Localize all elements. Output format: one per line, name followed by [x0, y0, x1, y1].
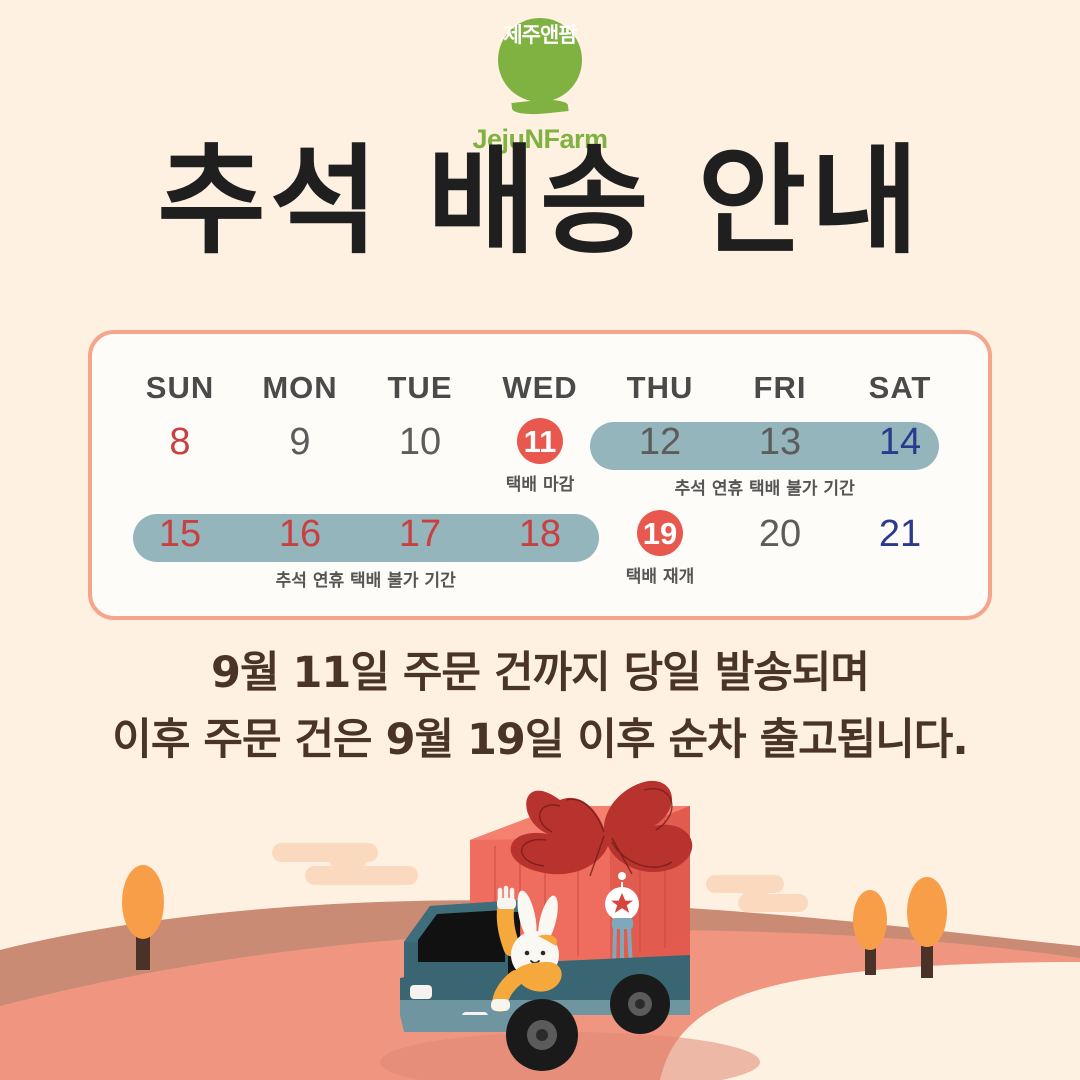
weekday-wed: WED: [480, 370, 600, 406]
notice-line-2: 이후 주문 건은 9월 19일 이후 순차 출고됩니다.: [0, 707, 1080, 774]
calendar-day-11: 11 택배 마감: [480, 406, 600, 498]
day-number: 16: [277, 512, 323, 556]
calendar-day-17: 17: [360, 498, 480, 590]
calendar-card: SUN MON TUE WED THU FRI SAT 추석 연휴 택배 불가 …: [88, 330, 992, 620]
calendar-day-8: 8: [120, 406, 240, 498]
calendar-day-18: 18: [480, 498, 600, 590]
logo-mark: 제주앤팜: [494, 18, 586, 110]
day-number-badge: 11: [517, 418, 563, 464]
page-title: 추석 배송 안내: [0, 140, 1080, 264]
day-number: 14: [877, 420, 923, 464]
day-number: 8: [157, 420, 203, 464]
day-number: 9: [277, 420, 323, 464]
day-number: 10: [397, 420, 443, 464]
calendar-day-19: 19 택배 재개: [600, 498, 720, 590]
weekday-thu: THU: [600, 370, 720, 406]
calendar-weekday-header: SUN MON TUE WED THU FRI SAT: [120, 370, 960, 406]
calendar-day-10: 10: [360, 406, 480, 498]
day-number-badge: 19: [637, 510, 683, 556]
notice-line-1: 9월 11일 주문 건까지 당일 발송되며: [0, 640, 1080, 707]
day-number: 18: [517, 512, 563, 556]
calendar-week-row: 추석 연휴 택배 불가 기간 8 9 10 11 택배 마감 12 13 14: [120, 406, 960, 498]
logo-korean-text: 제주앤팜: [494, 24, 586, 46]
calendar-day-16: 16: [240, 498, 360, 590]
day-number: 12: [637, 420, 683, 464]
weekday-sun: SUN: [120, 370, 240, 406]
weekday-mon: MON: [240, 370, 360, 406]
calendar-day-14: 14: [840, 406, 960, 498]
day-number: 20: [757, 512, 803, 556]
wheel-icon: [610, 974, 670, 1034]
day-number: 13: [757, 420, 803, 464]
notice-body: 9월 11일 주문 건까지 당일 발송되며 이후 주문 건은 9월 19일 이후…: [0, 640, 1080, 773]
weekday-fri: FRI: [720, 370, 840, 406]
calendar-day-15: 15: [120, 498, 240, 590]
day-number: 15: [157, 512, 203, 556]
leaf-icon: [511, 97, 568, 117]
day-caption: 택배 마감: [506, 470, 574, 495]
calendar-day-21: 21: [840, 498, 960, 590]
wheel-icon: [506, 999, 578, 1071]
calendar-day-13: 13: [720, 406, 840, 498]
calendar-day-12: 12: [600, 406, 720, 498]
weekday-sat: SAT: [840, 370, 960, 406]
weekday-tue: TUE: [360, 370, 480, 406]
day-number: 21: [877, 512, 923, 556]
calendar-week-row: 추석 연휴 택배 불가 기간 15 16 17 18 19 택배 재개 20 2: [120, 498, 960, 590]
day-caption: 택배 재개: [626, 562, 694, 587]
calendar-day-20: 20: [720, 498, 840, 590]
calendar-day-9: 9: [240, 406, 360, 498]
day-number: 17: [397, 512, 443, 556]
